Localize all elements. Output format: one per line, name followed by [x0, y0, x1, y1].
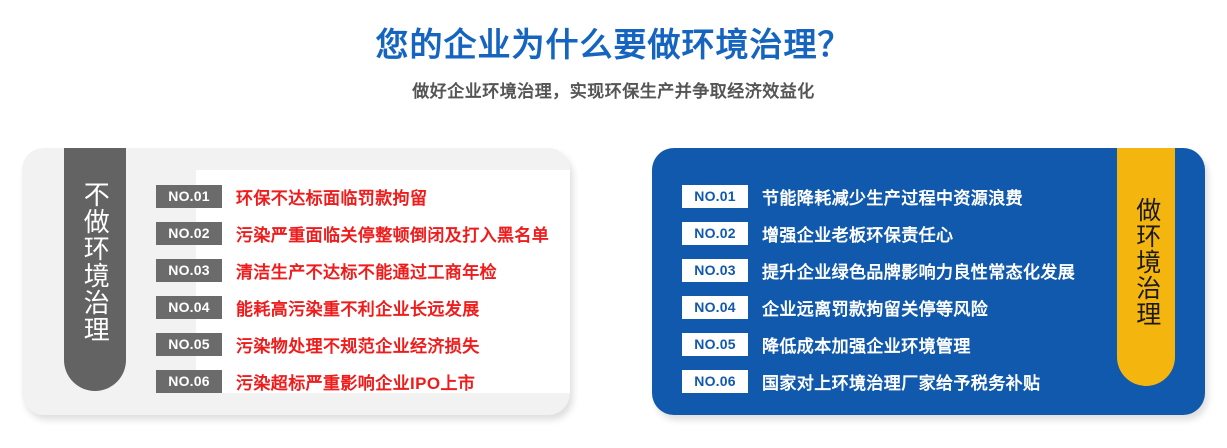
page-header: 您的企业为什么要做环境治理？ 做好企业环境治理，实现环保生产并争取经济效益化 — [0, 0, 1227, 102]
item-label: 企业远离罚款拘留关停等风险 — [762, 295, 988, 320]
side-tab-label: 不做环境治理 — [78, 181, 113, 343]
item-number-badge: NO.01 — [682, 185, 748, 208]
side-tab-label: 做环境治理 — [1129, 197, 1163, 327]
list-item: NO.02 污染严重面临关停整顿倒闭及打入黑名单 — [156, 215, 549, 251]
panel-without-treatment: 不做环境治理 NO.01 环保不达标面临罚款拘留 NO.02 污染严重面临关停整… — [22, 148, 570, 415]
list-item: NO.06 污染超标严重影响企业IPO上市 — [156, 363, 549, 399]
item-number-badge: NO.04 — [682, 296, 748, 319]
list-item: NO.03 提升企业绿色品牌影响力良性常态化发展 — [682, 252, 1075, 288]
side-tab-without-treatment: 不做环境治理 — [64, 148, 126, 391]
page-subtitle: 做好企业环境治理，实现环保生产并争取经济效益化 — [0, 65, 1227, 102]
list-item: NO.03 清洁生产不达标不能通过工商年检 — [156, 252, 549, 288]
item-label: 增强企业老板环保责任心 — [762, 221, 953, 246]
list-item: NO.05 降低成本加强企业环境管理 — [682, 326, 1075, 362]
item-number-badge: NO.06 — [682, 370, 748, 393]
list-item: NO.04 企业远离罚款拘留关停等风险 — [682, 289, 1075, 325]
item-number-badge: NO.01 — [156, 185, 222, 208]
list-item: NO.02 增强企业老板环保责任心 — [682, 215, 1075, 251]
item-label: 污染物处理不规范企业经济损失 — [236, 332, 480, 357]
item-number-badge: NO.03 — [156, 259, 222, 282]
item-number-badge: NO.02 — [156, 222, 222, 245]
list-item: NO.06 国家对上环境治理厂家给予税务补贴 — [682, 363, 1075, 399]
item-label: 节能降耗减少生产过程中资源浪费 — [762, 184, 1023, 209]
item-number-badge: NO.04 — [156, 296, 222, 319]
item-number-badge: NO.06 — [156, 370, 222, 393]
item-label: 环保不达标面临罚款拘留 — [236, 184, 427, 209]
page-title: 您的企业为什么要做环境治理？ — [0, 0, 1227, 65]
right-item-list: NO.01 节能降耗减少生产过程中资源浪费 NO.02 增强企业老板环保责任心 … — [682, 178, 1075, 400]
item-number-badge: NO.03 — [682, 259, 748, 282]
side-tab-with-treatment: 做环境治理 — [1117, 148, 1175, 386]
item-number-badge: NO.05 — [682, 333, 748, 356]
item-label: 污染严重面临关停整顿倒闭及打入黑名单 — [236, 221, 549, 246]
item-label: 污染超标严重影响企业IPO上市 — [236, 369, 475, 394]
item-number-badge: NO.02 — [682, 222, 748, 245]
panel-with-treatment: 做环境治理 NO.01 节能降耗减少生产过程中资源浪费 NO.02 增强企业老板… — [652, 148, 1205, 415]
list-item: NO.01 节能降耗减少生产过程中资源浪费 — [682, 178, 1075, 214]
list-item: NO.01 环保不达标面临罚款拘留 — [156, 178, 549, 214]
list-item: NO.05 污染物处理不规范企业经济损失 — [156, 326, 549, 362]
left-item-list: NO.01 环保不达标面临罚款拘留 NO.02 污染严重面临关停整顿倒闭及打入黑… — [156, 178, 549, 400]
item-label: 清洁生产不达标不能通过工商年检 — [236, 258, 497, 283]
list-item: NO.04 能耗高污染重不利企业长远发展 — [156, 289, 549, 325]
item-label: 提升企业绿色品牌影响力良性常态化发展 — [762, 258, 1075, 283]
item-label: 国家对上环境治理厂家给予税务补贴 — [762, 369, 1040, 394]
item-number-badge: NO.05 — [156, 333, 222, 356]
item-label: 降低成本加强企业环境管理 — [762, 332, 971, 357]
item-label: 能耗高污染重不利企业长远发展 — [236, 295, 480, 320]
